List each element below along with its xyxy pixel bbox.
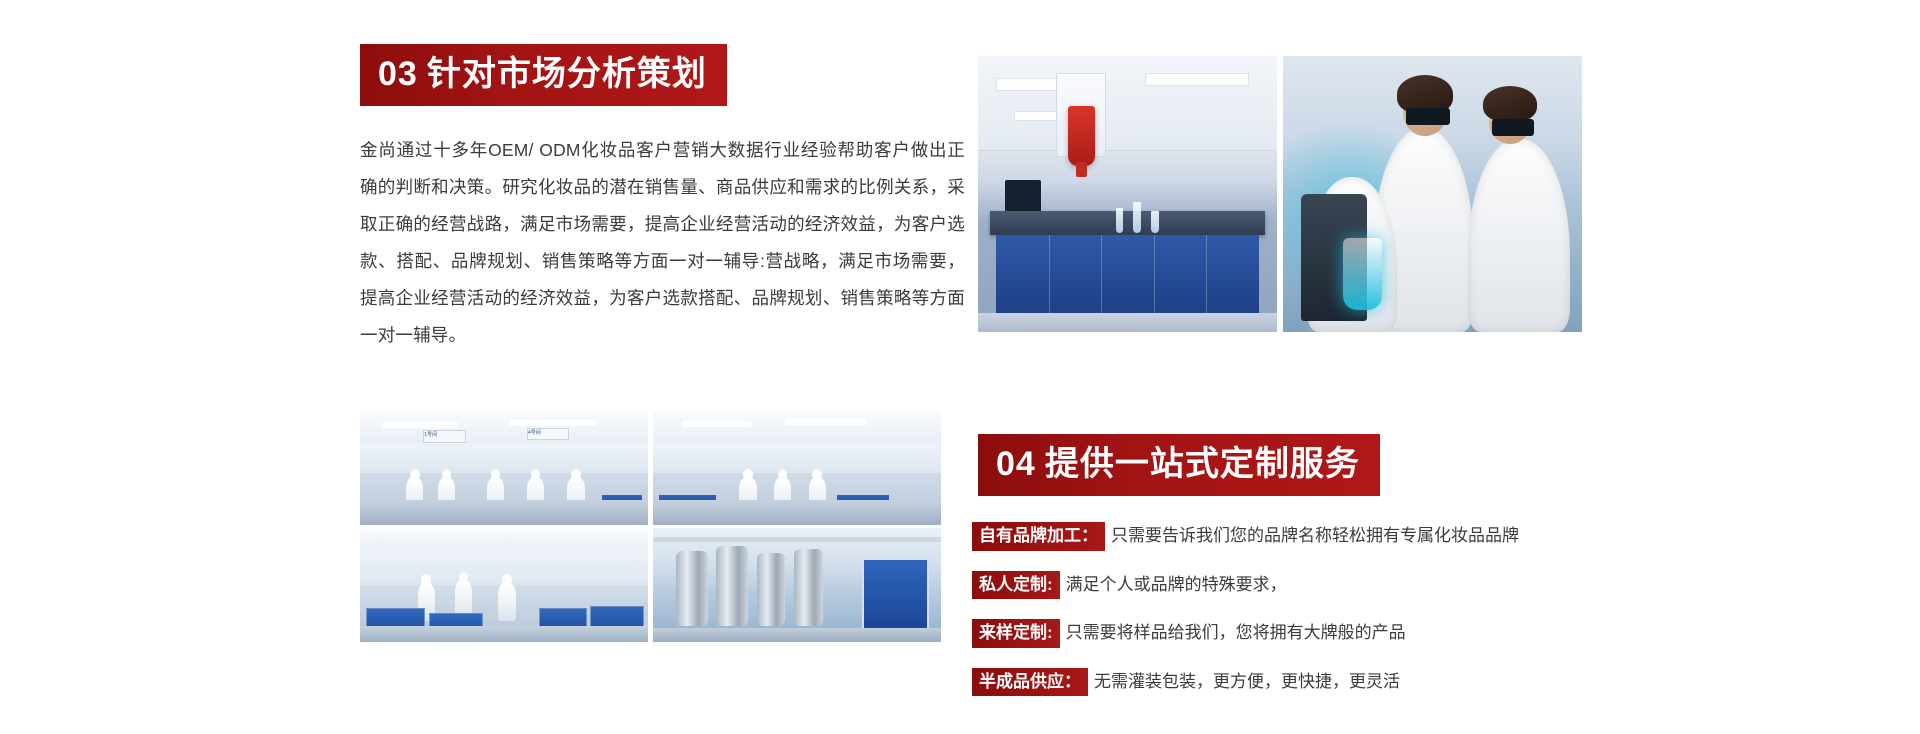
section-title-04: 提供一站式定制服务: [1045, 445, 1360, 483]
section-number-04: 04: [996, 445, 1036, 483]
service-text: 无需灌装包装，更方便，更快捷，更灵活: [1094, 672, 1400, 692]
photo-packing-crates: [360, 528, 648, 642]
photo-water-treatment: [653, 528, 941, 642]
service-text: 只需要将样品给我们，您将拥有大牌般的产品: [1066, 623, 1406, 643]
service-item-semi-finished[interactable]: 半成品供应： 无需灌装包装，更方便，更快捷，更灵活: [972, 668, 1519, 697]
section-number-03: 03: [378, 55, 418, 93]
service-text: 只需要告诉我们您的品牌名称轻松拥有专属化妆品品牌: [1111, 526, 1519, 546]
photo-production-line: [653, 411, 941, 525]
photo-microscope-research: [1283, 56, 1582, 332]
photo-cleanroom-workers: 1号间 4号间: [360, 411, 648, 525]
page-canvas: 03针对市场分析策划 金尚通过十多年OEM/ ODM化妆品客户营销大数据行业经验…: [0, 0, 1920, 734]
service-tag: 半成品供应：: [972, 668, 1088, 697]
room-tag-2: 4号间: [527, 428, 569, 440]
section-heading-03: 03针对市场分析策划: [360, 44, 727, 106]
photo-lab-automation: [978, 56, 1277, 332]
service-tag: 私人定制:: [972, 571, 1060, 600]
service-tag: 自有品牌加工：: [972, 522, 1105, 551]
service-text: 满足个人或品牌的特殊要求，: [1066, 575, 1287, 595]
section-body-03: 金尚通过十多年OEM/ ODM化妆品客户营销大数据行业经验帮助客户做出正确的判断…: [360, 132, 965, 354]
service-item-private-custom[interactable]: 私人定制: 满足个人或品牌的特殊要求，: [972, 571, 1519, 600]
service-item-own-brand[interactable]: 自有品牌加工： 只需要告诉我们您的品牌名称轻松拥有专属化妆品品牌: [972, 522, 1519, 551]
section-title-03: 针对市场分析策划: [427, 55, 707, 93]
service-tag: 来样定制:: [972, 619, 1060, 648]
room-tag-1: 1号间: [423, 430, 465, 442]
service-item-sample-custom[interactable]: 来样定制: 只需要将样品给我们，您将拥有大牌般的产品: [972, 619, 1519, 648]
section-heading-04: 04提供一站式定制服务: [978, 434, 1380, 496]
service-list: 自有品牌加工： 只需要告诉我们您的品牌名称轻松拥有专属化妆品品牌 私人定制: 满…: [972, 522, 1519, 716]
